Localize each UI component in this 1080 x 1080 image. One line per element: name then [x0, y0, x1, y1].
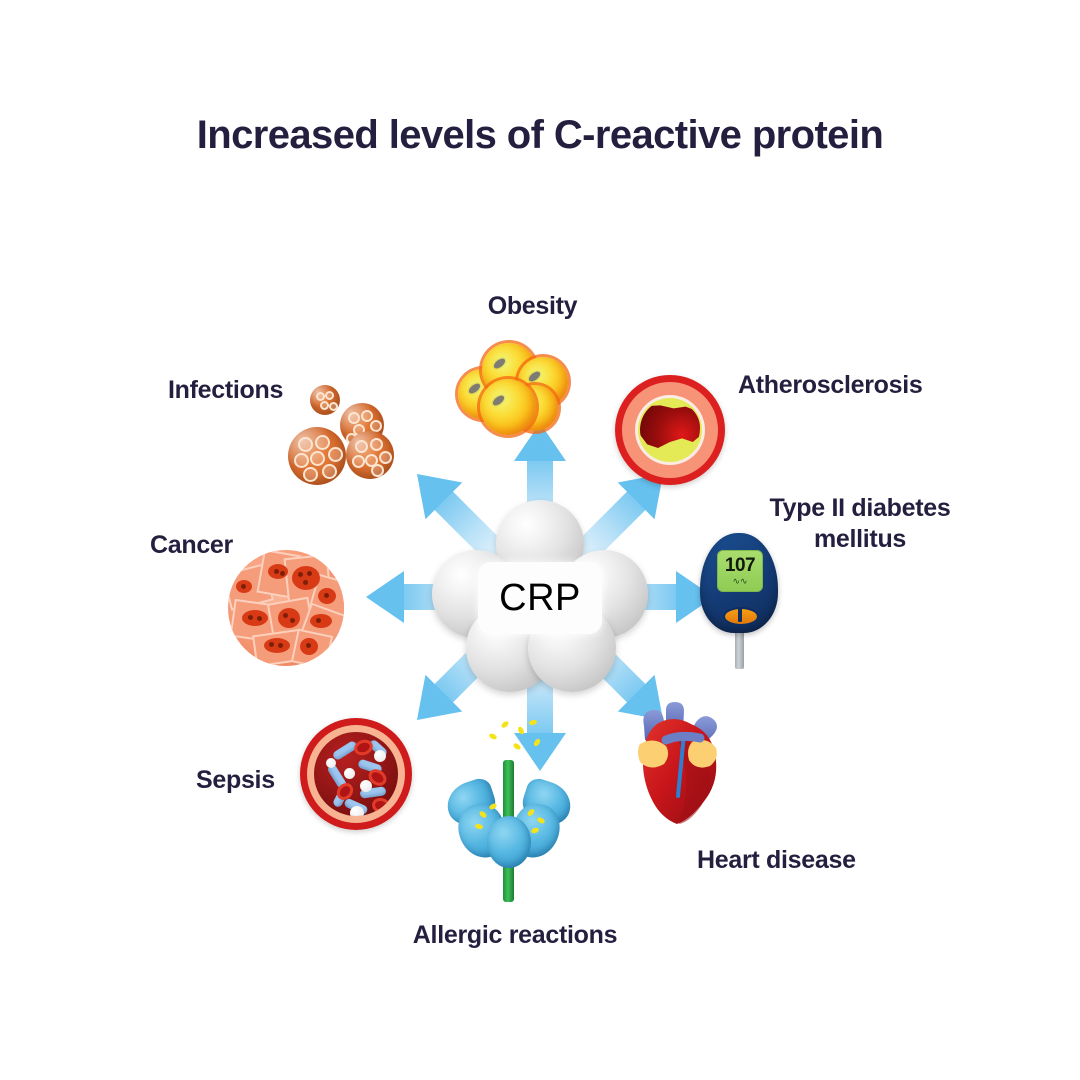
infected-blood-vessel-icon: [300, 718, 412, 830]
glucometer-screen: 107 ∿∿: [717, 550, 763, 592]
pollen-particles-icon: [485, 718, 545, 758]
virus-particles-icon: [288, 385, 398, 485]
glucometer-wave-glyph: ∿∿: [732, 577, 747, 586]
glucometer-body: 107 ∿∿: [700, 533, 778, 633]
infographic-canvas: Increased levels of C-reactive protein C…: [0, 0, 1080, 1080]
page-title: Increased levels of C-reactive protein: [0, 113, 1080, 158]
heart-svg: [622, 700, 742, 830]
vessel-lumen: [314, 732, 398, 816]
crp-label: CRP: [478, 562, 602, 634]
label-cancer: Cancer: [150, 530, 233, 561]
tumor-cells-icon: [228, 550, 344, 666]
label-obesity: Obesity: [425, 291, 640, 322]
glucometer-reading: 107: [725, 556, 755, 575]
label-allergic-reactions: Allergic reactions: [385, 920, 645, 951]
pollen-flower-icon: [445, 760, 575, 900]
heart-icon: [622, 700, 742, 830]
flower-petal: [487, 816, 531, 868]
label-sepsis: Sepsis: [196, 765, 275, 796]
glucometer-button[interactable]: [723, 607, 759, 626]
artery-lumen: [640, 400, 700, 460]
glucometer-icon: 107 ∿∿: [700, 533, 790, 673]
fat-cells-icon: [450, 335, 575, 435]
label-heart-disease: Heart disease: [697, 845, 856, 876]
crp-molecule: CRP: [418, 500, 662, 696]
label-type-ii-diabetes-line1: Type II diabetes: [700, 493, 1020, 524]
arrow-head: [366, 571, 404, 623]
label-infections: Infections: [168, 375, 283, 406]
glucometer-test-strip: [735, 631, 744, 669]
artery-plaque: [638, 398, 702, 462]
label-atherosclerosis: Atherosclerosis: [738, 370, 922, 401]
artery-plaque-icon: [615, 375, 725, 485]
